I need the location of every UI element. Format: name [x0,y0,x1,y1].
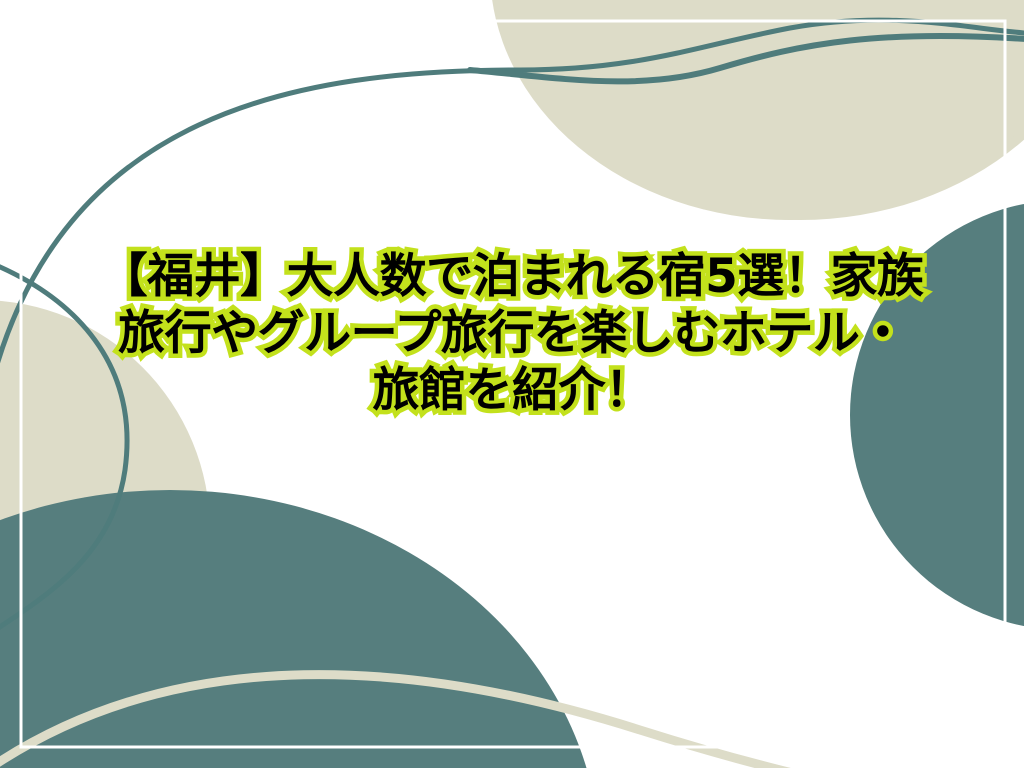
poster-canvas: 【福井】大人数で泊まれる宿5選！家族 【福井】大人数で泊まれる宿5選！家族 旅行… [0,0,1024,768]
background-decoration-layer [0,0,1024,768]
